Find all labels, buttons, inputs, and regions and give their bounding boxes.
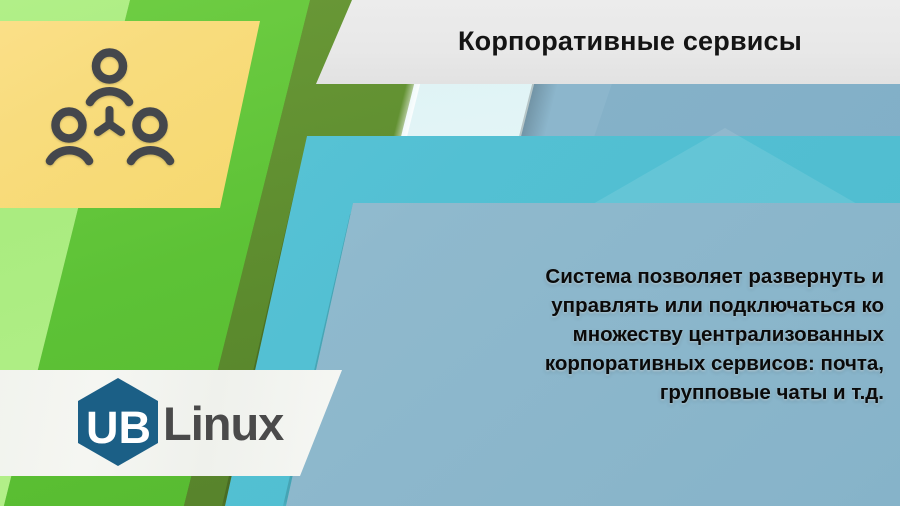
ub-hexagon-icon: UB <box>75 377 161 467</box>
ub-hexagon-label: UB <box>86 402 151 453</box>
logo-wordmark: Linux <box>163 400 283 447</box>
title-band: Корпоративные сервисы <box>316 0 900 84</box>
presentation-slide: UB Корпоративные сервисы <box>0 0 900 506</box>
ublinux-logo: UB Linux <box>75 377 283 467</box>
group-of-people-icon <box>42 46 177 166</box>
page-title: Корпоративные сервисы <box>430 26 802 59</box>
slide-body-text: Система позволяет развернуть и управлять… <box>470 262 884 407</box>
